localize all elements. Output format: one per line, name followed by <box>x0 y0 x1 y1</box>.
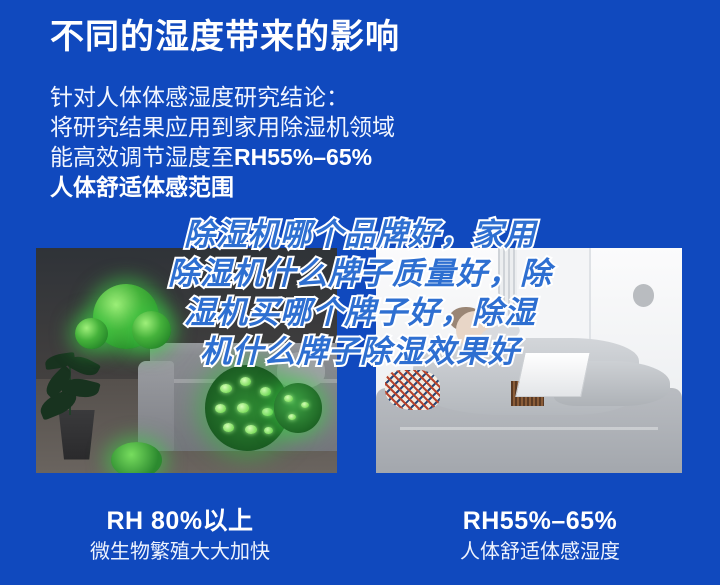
photo-panels <box>0 0 720 585</box>
caption-left: RH 80%以上 微生物繁殖大大加快 <box>0 505 360 567</box>
caption-left-description: 微生物繁殖大大加快 <box>0 537 360 567</box>
caption-right: RH55%–65% 人体舒适体感湿度 <box>360 505 720 567</box>
caption-right-value: RH55%–65% <box>360 505 720 537</box>
dim-cushion <box>277 352 325 388</box>
dim-sofa-arm <box>138 361 174 451</box>
hanging-decor <box>498 248 516 316</box>
wall-knob <box>633 284 654 307</box>
patterned-cushion <box>385 370 440 411</box>
humidity-infographic-poster: 不同的湿度带来的影响 针对人体体感湿度研究结论： 将研究结果应用到家用除湿机领域… <box>0 0 720 585</box>
book-pages <box>515 352 591 397</box>
photo-panel-right-comfort-room <box>376 248 682 473</box>
photo-panel-left-humid-room <box>36 248 337 473</box>
bottom-captions: RH 80%以上 微生物繁殖大大加快 RH55%–65% 人体舒适体感湿度 <box>0 505 720 567</box>
caption-left-value: RH 80%以上 <box>0 505 360 537</box>
microbe-icon <box>274 383 322 433</box>
caption-right-description: 人体舒适体感湿度 <box>360 537 720 567</box>
